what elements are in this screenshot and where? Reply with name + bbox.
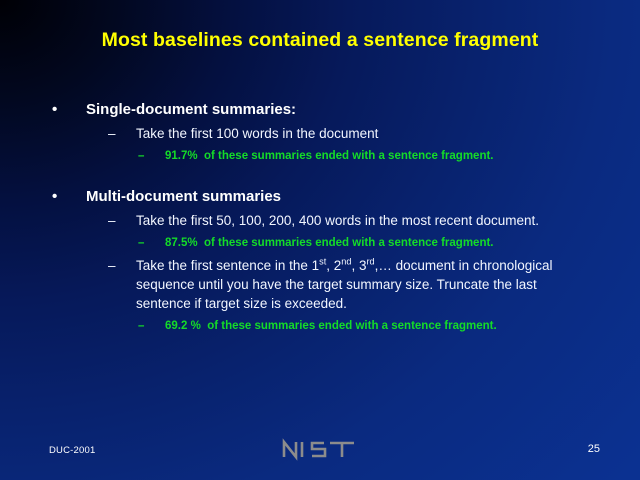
- bullet-level2-multi-doc-method-1: – Take the first 50, 100, 200, 400 words…: [0, 211, 640, 230]
- dash-marker-icon: –: [138, 318, 144, 335]
- bullet-level2-label: Take the first 50, 100, 200, 400 words i…: [136, 213, 539, 228]
- sub2-part1: Take the first sentence in the 1: [136, 258, 319, 273]
- dash-marker-icon: –: [138, 148, 144, 165]
- bullet-level1-label: Multi-document summaries: [86, 188, 281, 205]
- nist-logo-icon: [281, 438, 359, 462]
- ordinal-suffix-3: rd: [366, 257, 374, 267]
- page-number: 25: [588, 442, 600, 456]
- section-single-document: • Single-document summaries: – Take the …: [0, 100, 640, 165]
- stat-multi-document-chronological: – 69.2 % of these summaries ended with a…: [0, 318, 640, 335]
- nist-logo: [0, 438, 640, 467]
- bullet-level2-multi-doc-method-2: – Take the first sentence in the 1st, 2n…: [0, 256, 640, 313]
- stat-value: 91.7%: [165, 150, 198, 162]
- slide-canvas: Most baselines contained a sentence frag…: [0, 0, 640, 480]
- stat-multi-document-first-n: – 87.5% of these summaries ended with a …: [0, 235, 640, 252]
- bullet-dot-icon: •: [52, 100, 57, 120]
- stat-label: of these summaries ended with a sentence…: [204, 237, 494, 249]
- ordinal-suffix-2: nd: [341, 257, 351, 267]
- bullet-level2-label: Take the first 100 words in the document: [136, 126, 378, 141]
- section-multi-document: • Multi-document summaries – Take the fi…: [0, 187, 640, 335]
- dash-marker-icon: –: [108, 256, 116, 275]
- footer-conference-label: DUC-2001: [49, 444, 95, 457]
- dash-marker-icon: –: [108, 211, 116, 230]
- dash-marker-icon: –: [138, 235, 144, 252]
- stat-label: of these summaries ended with a sentence…: [204, 150, 494, 162]
- sub2-part3: , 3: [351, 258, 366, 273]
- section-spacer: [0, 165, 640, 187]
- slide-body: • Single-document summaries: – Take the …: [0, 100, 640, 335]
- dash-marker-icon: –: [108, 124, 116, 143]
- bullet-dot-icon: •: [52, 187, 57, 207]
- sub2-part2: , 2: [326, 258, 341, 273]
- bullet-level1-single-document: • Single-document summaries:: [0, 100, 640, 120]
- stat-label: of these summaries ended with a sentence…: [207, 320, 497, 332]
- stat-single-document: – 91.7% of these summaries ended with a …: [0, 148, 640, 165]
- stat-value: 87.5%: [165, 237, 198, 249]
- bullet-level2-label: Take the first sentence in the 1st, 2nd,…: [136, 258, 553, 311]
- bullet-level1-label: Single-document summaries:: [86, 101, 296, 118]
- bullet-level2-single-doc-method: – Take the first 100 words in the docume…: [0, 124, 640, 143]
- bullet-level1-multi-document: • Multi-document summaries: [0, 187, 640, 207]
- slide-title: Most baselines contained a sentence frag…: [0, 28, 640, 52]
- stat-value: 69.2 %: [165, 320, 201, 332]
